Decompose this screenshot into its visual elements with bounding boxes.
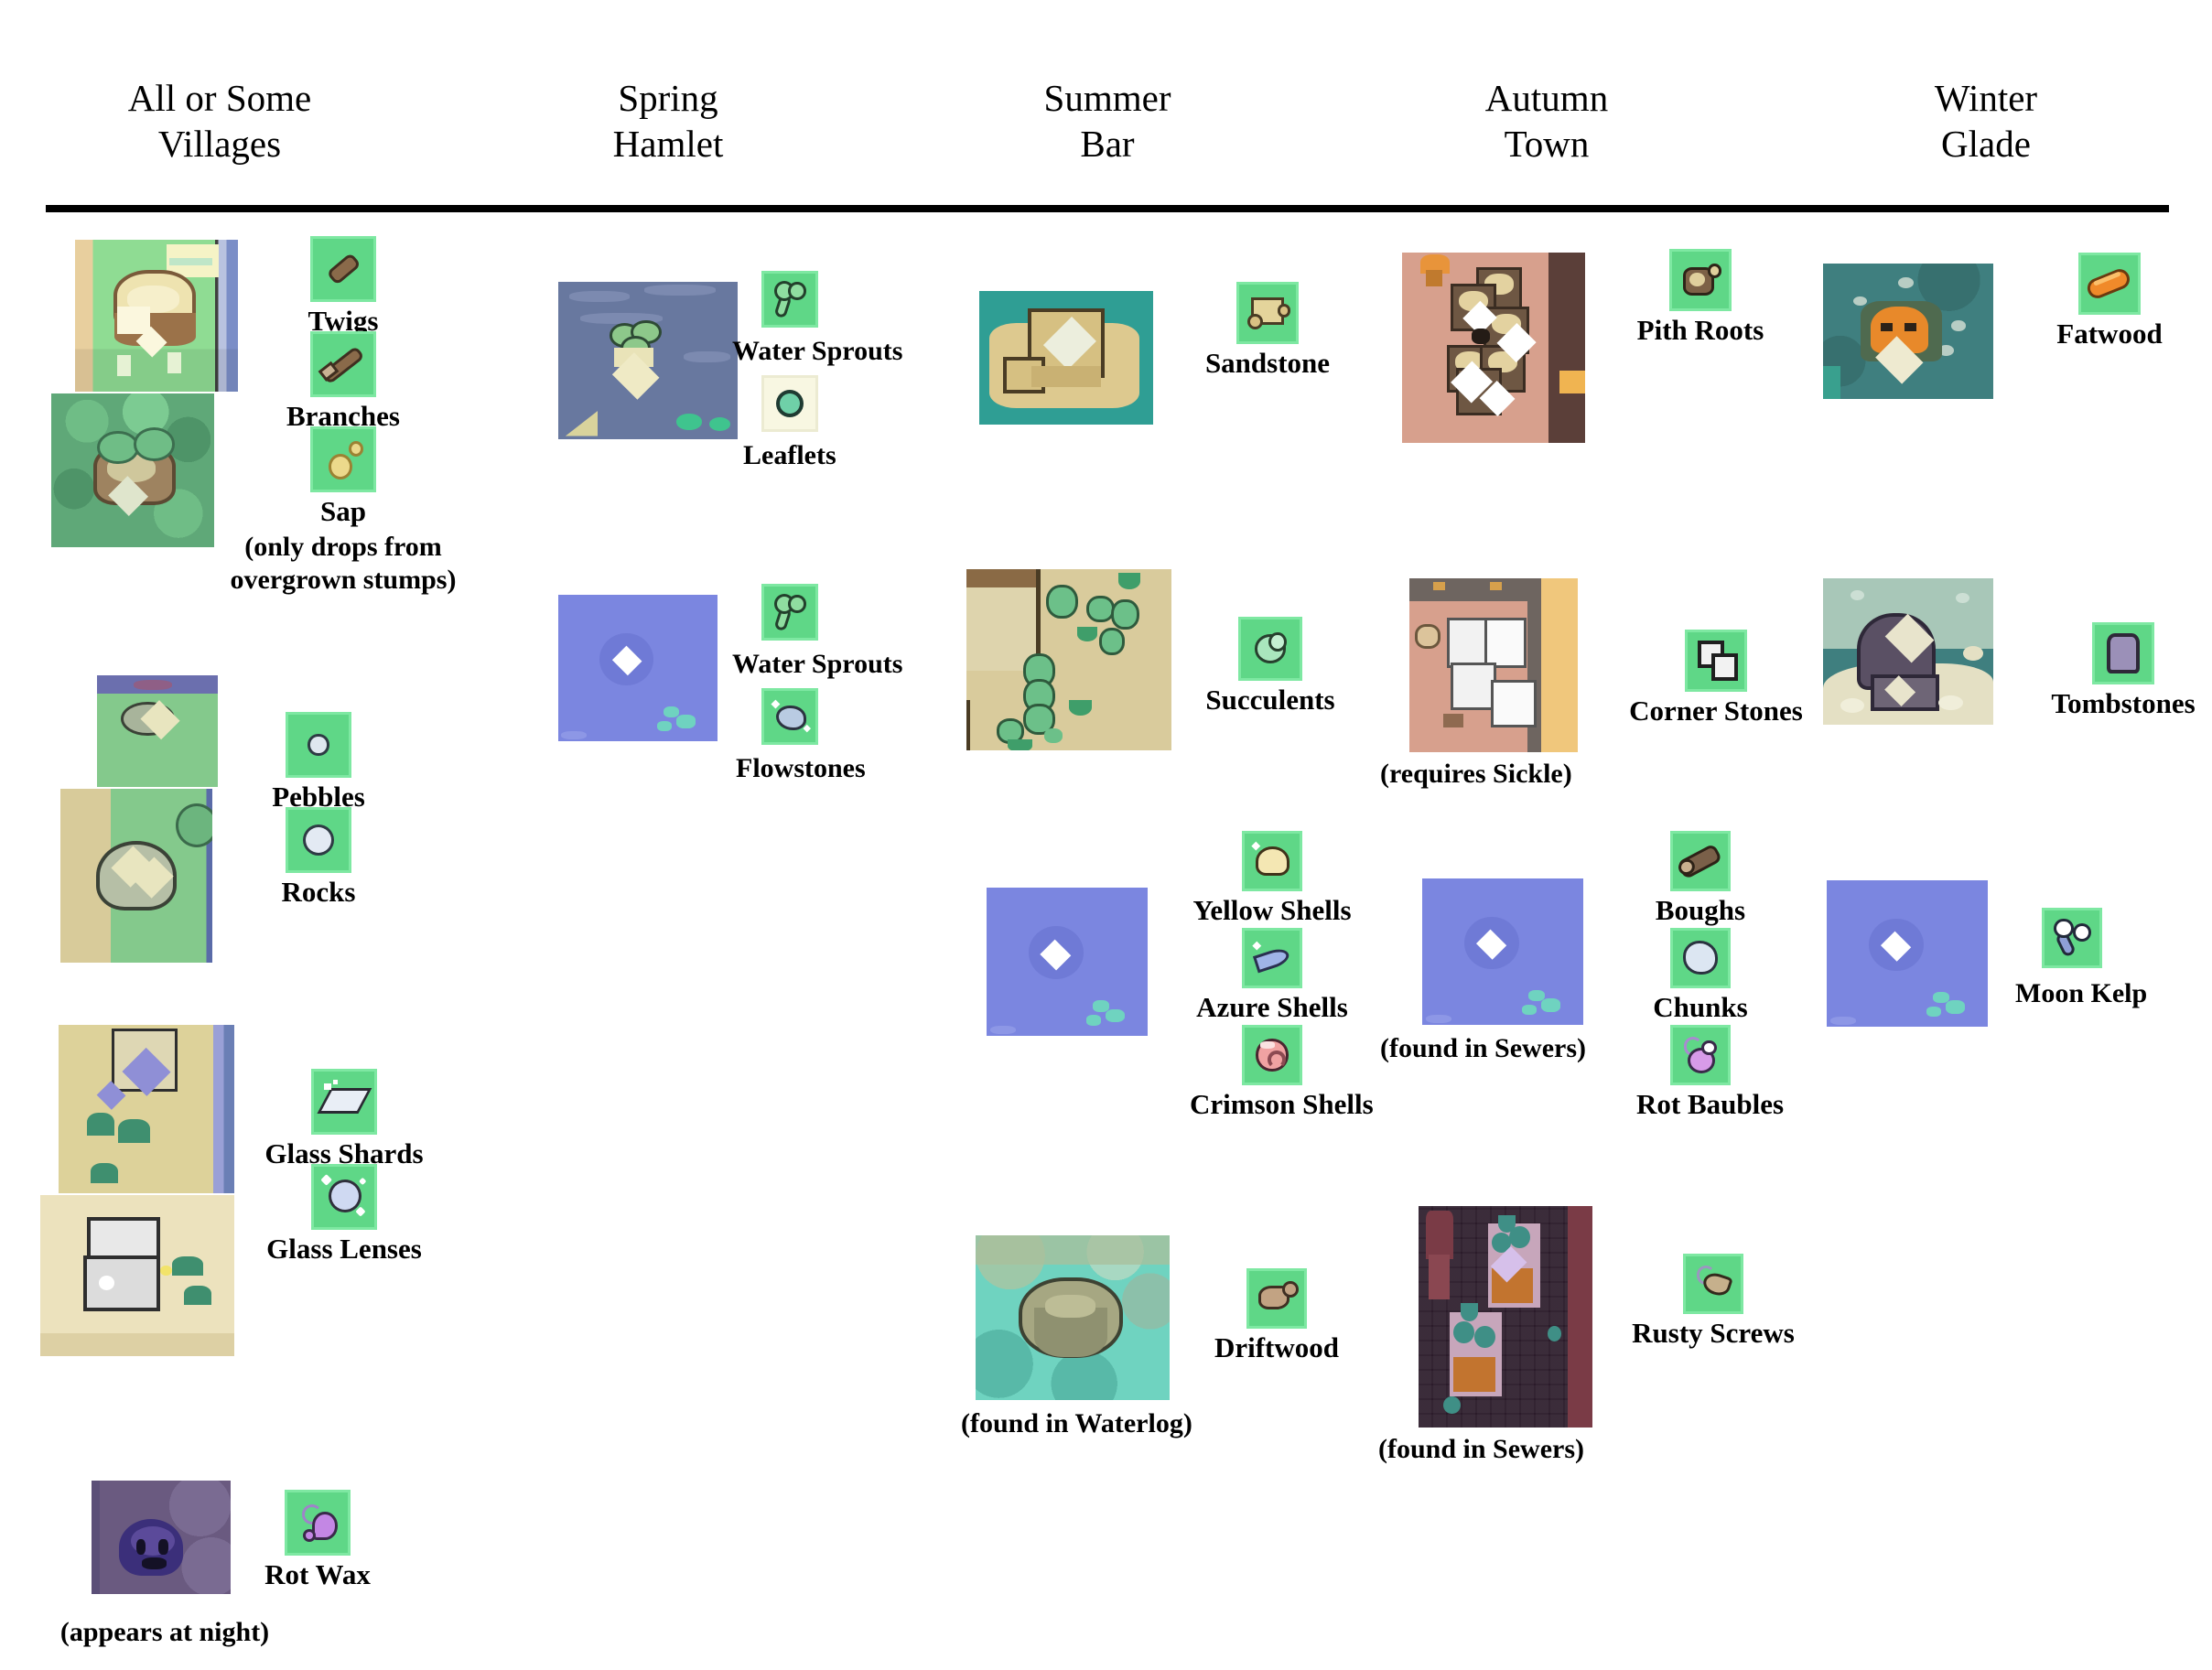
item-succulents[interactable]: Succulents — [1197, 617, 1343, 716]
corner-stones-note: (requires Sickle) — [1380, 758, 1572, 790]
item-label: Rot Wax — [240, 1558, 395, 1591]
note-text: (found in Waterlog) — [961, 1408, 1192, 1438]
driftwood-icon — [1246, 1268, 1307, 1329]
item-label: Moon Kelp — [2015, 978, 2147, 1008]
rocks-icon — [286, 807, 351, 873]
water-sprouts-icon — [761, 271, 818, 328]
item-label: Rusty Screws — [1631, 1317, 1796, 1350]
village-stump-screenshot — [75, 240, 238, 392]
sap-note-line-2: overgrown stumps) — [165, 564, 522, 596]
water-sprouts-icon — [761, 584, 818, 641]
header-line-1: All or Some — [0, 75, 439, 121]
item-rot-wax[interactable]: Rot Wax — [240, 1490, 395, 1591]
beach-crate-screenshot — [59, 1025, 234, 1193]
item-rocks[interactable]: Rocks — [245, 807, 392, 909]
sewer-fishing-note: (found in Sewers) — [1380, 1032, 1586, 1064]
item-label: Flowstones — [736, 753, 866, 783]
leaflets-icon — [761, 375, 818, 432]
item-label: Leaflets — [743, 440, 836, 470]
spring-water-sprouts-screenshot — [558, 282, 738, 439]
item-rot-baubles[interactable]: Rot Baubles — [1636, 1025, 1764, 1121]
moon-kelp-label: Moon Kelp — [2015, 977, 2147, 1009]
boughs-icon — [1670, 831, 1731, 891]
chunks-icon — [1670, 928, 1731, 988]
leaflets-label: Leaflets — [743, 439, 836, 471]
glass-lenses-icon — [311, 1164, 377, 1230]
item-flowstones[interactable] — [761, 688, 816, 745]
item-label: Yellow Shells — [1190, 894, 1354, 927]
header-line-1: Summer — [915, 75, 1300, 121]
water-sprouts-label: Water Sprouts — [732, 335, 902, 367]
item-label: Driftwood — [1199, 1331, 1354, 1364]
spring-fishing-spot-screenshot — [558, 595, 718, 741]
summer-fishing-spot-screenshot — [987, 888, 1148, 1036]
note-text: (found in Sewers) — [1380, 1033, 1586, 1063]
item-label: Sap — [275, 495, 412, 528]
header-line-2: Hamlet — [476, 121, 860, 167]
fatwood-icon — [2078, 253, 2141, 315]
header-line-1: Winter — [1794, 75, 2178, 121]
header-line-2: Town — [1354, 121, 1739, 167]
item-label: Corner Stones — [1629, 695, 1803, 727]
header-divider-rule — [46, 205, 2169, 212]
rot-slime-screenshot — [92, 1481, 231, 1594]
header-spring-hamlet: Spring Hamlet — [476, 75, 860, 167]
sandstone-shore-screenshot — [979, 291, 1153, 425]
sandstone-icon — [1236, 282, 1299, 344]
item-azure-shells[interactable]: Azure Shells — [1190, 928, 1354, 1024]
waterlog-driftwood-screenshot — [976, 1235, 1170, 1400]
item-label: Pith Roots — [1627, 314, 1774, 347]
fatwood-stump-screenshot — [1823, 264, 1993, 399]
header-summer-bar: Summer Bar — [915, 75, 1300, 167]
item-glass-shards[interactable]: Glass Shards — [253, 1069, 436, 1170]
item-water-sprouts[interactable] — [761, 584, 816, 641]
item-label: Water Sprouts — [732, 336, 902, 366]
pebbles-icon — [286, 712, 351, 778]
header-line-2: Villages — [0, 121, 439, 167]
header-line-1: Spring — [476, 75, 860, 121]
item-pith-roots[interactable]: Pith Roots — [1627, 249, 1774, 347]
item-label: Azure Shells — [1190, 991, 1354, 1024]
twigs-icon — [310, 236, 376, 302]
item-chunks[interactable]: Chunks — [1636, 928, 1764, 1024]
crimson-shells-icon — [1242, 1025, 1302, 1085]
rot-wax-note: (appears at night) — [18, 1616, 311, 1648]
sand-chest-screenshot — [40, 1195, 234, 1356]
item-pebbles[interactable]: Pebbles — [245, 712, 392, 813]
item-driftwood[interactable]: Driftwood — [1199, 1268, 1354, 1364]
overgrown-stump-screenshot — [51, 393, 214, 547]
item-rusty-screws[interactable]: Rusty Screws — [1631, 1254, 1796, 1350]
rusty-screws-icon — [1683, 1254, 1743, 1314]
item-label: Sandstone — [1199, 347, 1336, 380]
sap-note-line-1: (only drops from — [165, 531, 522, 563]
header-winter-glade: Winter Glade — [1794, 75, 2178, 167]
item-label: Rot Baubles — [1636, 1088, 1764, 1121]
item-leaflets[interactable] — [761, 375, 816, 432]
item-crimson-shells[interactable]: Crimson Shells — [1190, 1025, 1354, 1121]
sap-icon — [310, 426, 376, 492]
item-yellow-shells[interactable]: Yellow Shells — [1190, 831, 1354, 927]
corner-stones-street-screenshot — [1409, 578, 1578, 752]
item-corner-stones[interactable]: Corner Stones — [1629, 630, 1803, 727]
item-label: Tombstones — [2041, 687, 2206, 720]
rock-field-screenshot — [60, 789, 212, 963]
yellow-shells-icon — [1242, 831, 1302, 891]
tombstones-icon — [2092, 622, 2154, 684]
item-glass-lenses[interactable]: Glass Lenses — [253, 1164, 436, 1266]
pith-roots-stumps-screenshot — [1402, 253, 1585, 443]
item-boughs[interactable]: Boughs — [1636, 831, 1764, 927]
item-label: Crimson Shells — [1190, 1088, 1354, 1121]
succulents-icon — [1238, 617, 1302, 681]
rusty-screws-note: (found in Sewers) — [1378, 1433, 1584, 1465]
item-label: Water Sprouts — [732, 649, 902, 679]
succulent-patch-screenshot — [966, 569, 1171, 750]
azure-shells-icon — [1242, 928, 1302, 988]
note-text: overgrown stumps) — [231, 565, 457, 595]
branches-icon — [310, 331, 376, 397]
glass-shards-icon — [311, 1069, 377, 1135]
water-sprouts-label: Water Sprouts — [732, 648, 902, 680]
item-twigs[interactable]: Twigs — [275, 236, 412, 338]
header-line-2: Glade — [1794, 121, 2178, 167]
sewer-interior-screenshot — [1419, 1206, 1592, 1428]
flowstones-label: Flowstones — [736, 752, 866, 784]
pebble-field-screenshot — [97, 675, 218, 787]
item-tombstones[interactable]: Tombstones — [2041, 622, 2206, 720]
header-all-or-some-villages: All or Some Villages — [0, 75, 439, 167]
item-branches[interactable]: Branches — [275, 331, 412, 433]
header-line-2: Bar — [915, 121, 1300, 167]
rot-wax-icon — [285, 1490, 351, 1556]
note-text: (requires Sickle) — [1380, 759, 1572, 789]
moon-kelp-icon — [2042, 908, 2102, 968]
driftwood-note: (found in Waterlog) — [961, 1407, 1192, 1439]
rot-baubles-icon — [1670, 1025, 1731, 1085]
flowstones-icon — [761, 688, 818, 745]
item-label: Boughs — [1636, 894, 1764, 927]
item-sandstone[interactable]: Sandstone — [1199, 282, 1336, 380]
item-label: Rocks — [245, 876, 392, 909]
autumn-fishing-spot-screenshot — [1422, 878, 1583, 1025]
winter-fishing-spot-screenshot — [1827, 880, 1988, 1027]
item-label: Glass Lenses — [253, 1233, 436, 1266]
item-label: Succulents — [1197, 684, 1343, 716]
item-label: Chunks — [1636, 991, 1764, 1024]
note-text: (found in Sewers) — [1378, 1434, 1584, 1464]
note-text: (only drops from — [244, 532, 442, 562]
item-label: Fatwood — [2041, 318, 2178, 350]
tombstone-snow-screenshot — [1823, 578, 1993, 725]
note-text: (appears at night) — [60, 1617, 269, 1647]
header-line-1: Autumn — [1354, 75, 1739, 121]
corner-stones-icon — [1685, 630, 1747, 692]
item-water-sprouts[interactable] — [761, 271, 816, 328]
column-headers: All or Some Villages Spring Hamlet Summe… — [0, 0, 2212, 206]
item-fatwood[interactable]: Fatwood — [2041, 253, 2178, 350]
item-moon-kelp[interactable] — [2039, 908, 2105, 968]
header-autumn-town: Autumn Town — [1354, 75, 1739, 167]
item-sap[interactable]: Sap — [275, 426, 412, 528]
pith-roots-icon — [1669, 249, 1732, 311]
